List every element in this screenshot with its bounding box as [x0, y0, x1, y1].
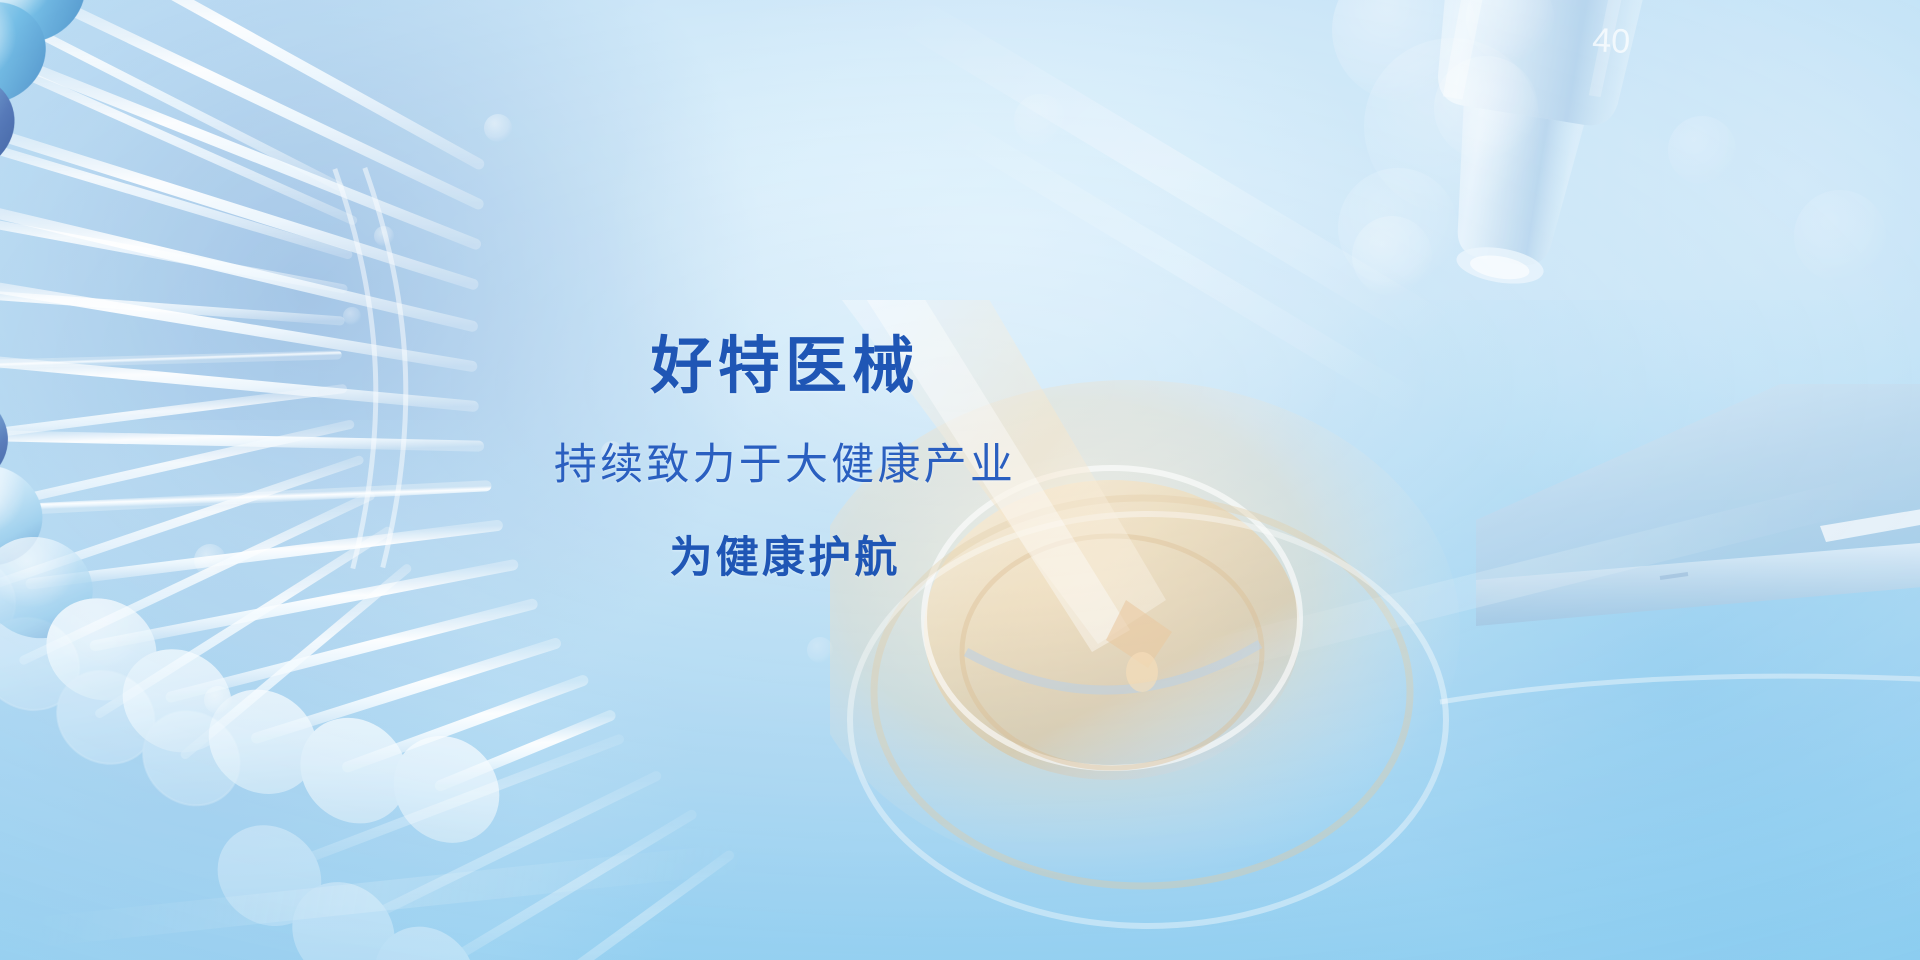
banner-copy: 好特医械 持续致力于大健康产业 为健康护航 [0, 0, 1920, 960]
hero-banner: 40 [0, 0, 1920, 960]
banner-subtitle: 持续致力于大健康产业 [554, 443, 1016, 488]
banner-title: 好特医械 [554, 335, 1016, 399]
banner-tagline: 为健康护航 [554, 536, 1016, 581]
